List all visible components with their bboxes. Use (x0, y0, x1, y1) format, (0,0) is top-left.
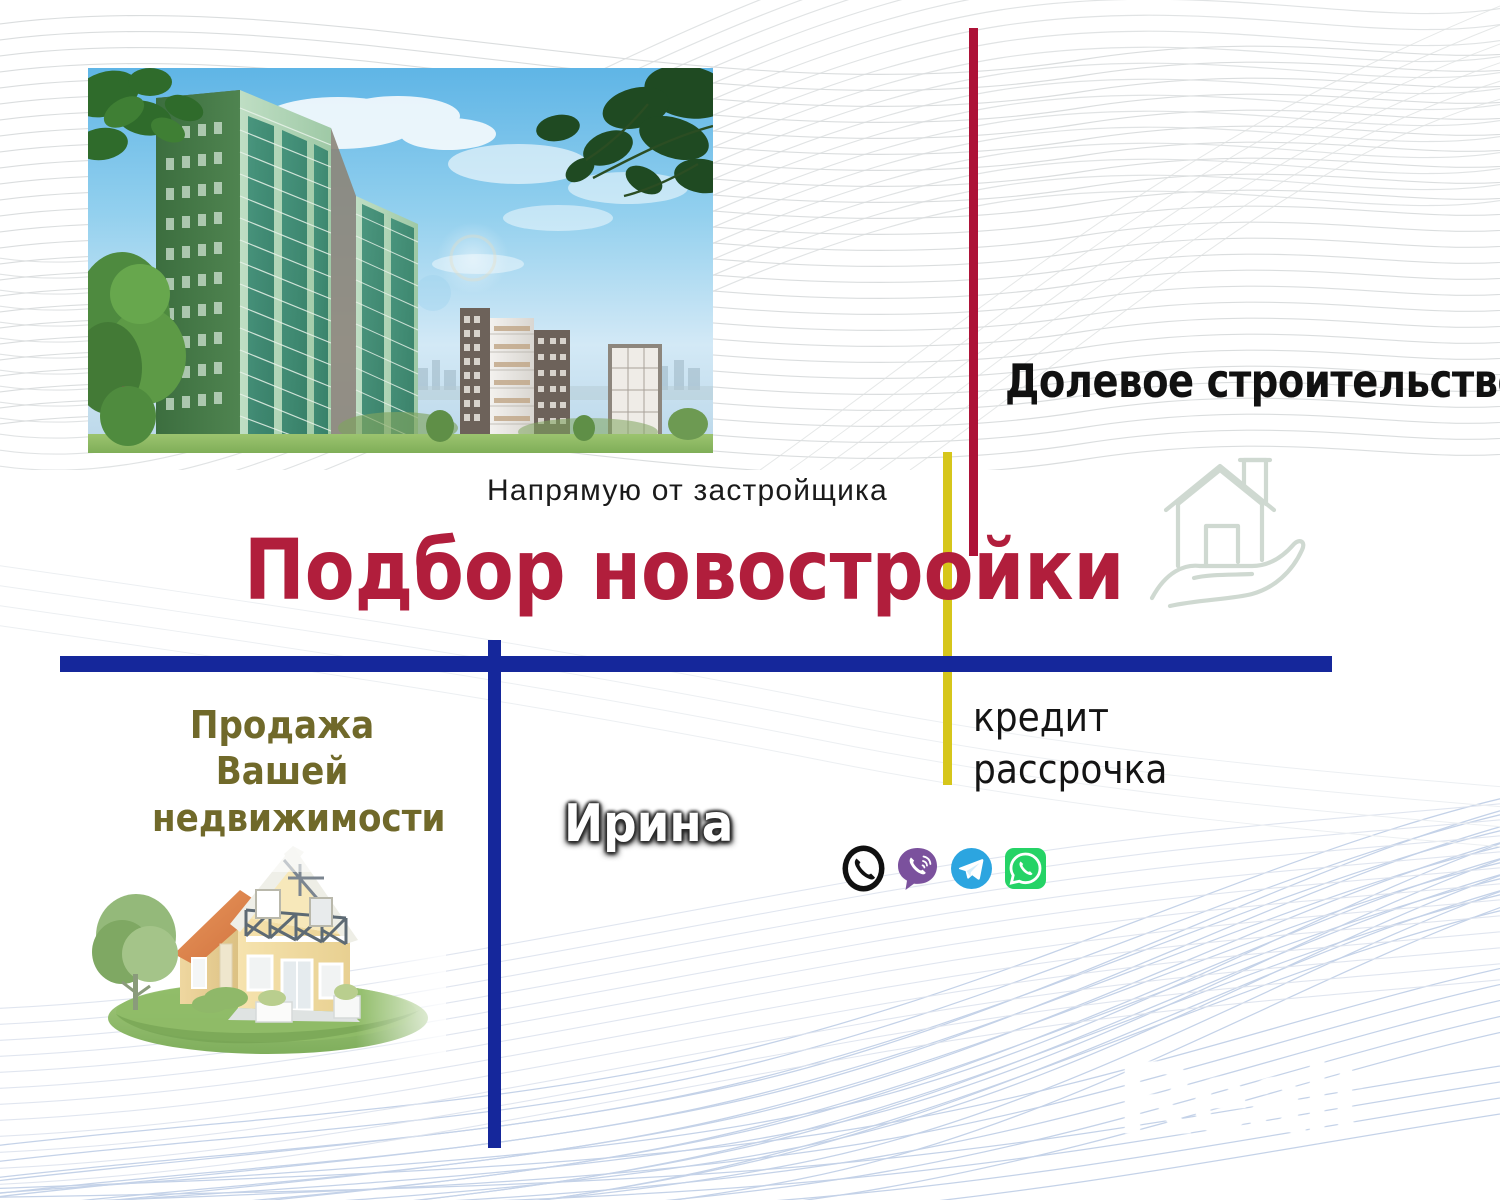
divider-blue-vertical (488, 640, 501, 1148)
house-in-hand-icon (1148, 448, 1308, 613)
page-title-podbor-novostroyki: Подбор новостройки (244, 528, 1124, 612)
finance-options: кредит рассрочка (973, 692, 1167, 796)
divider-red-vertical (969, 28, 978, 556)
finance-line-credit: кредит (973, 692, 1167, 744)
agent-name: Ирина (564, 798, 733, 850)
divider-blue-horizontal (60, 656, 1332, 672)
viber-icon[interactable] (894, 845, 941, 892)
poster-canvas: Долевое строительство Напрямую от застро… (0, 0, 1500, 1200)
prodazha-line-2: недвижимости (152, 795, 412, 841)
telegram-icon[interactable] (948, 845, 995, 892)
whatsapp-icon[interactable] (1002, 845, 1049, 892)
phone-icon[interactable] (840, 845, 887, 892)
finance-line-rassrochka: рассрочка (973, 744, 1167, 796)
section-title-dolevoe-stroitelstvo: Долевое строительство (1005, 358, 1500, 404)
hero-image-new-buildings (88, 68, 713, 453)
contact-icon-row (840, 845, 1049, 892)
prodazha-line-1: Продажа Вашей (152, 702, 412, 795)
kicker-napryamuyu-ot-zastroyshchika: Напрямую от застройщика (487, 474, 888, 508)
section-title-prodazha-nedvizhimosti: Продажа Вашей недвижимости (152, 702, 412, 841)
realt-watermark: Realt (1118, 1046, 1362, 1150)
cottage-image-private-house (88, 832, 446, 1060)
